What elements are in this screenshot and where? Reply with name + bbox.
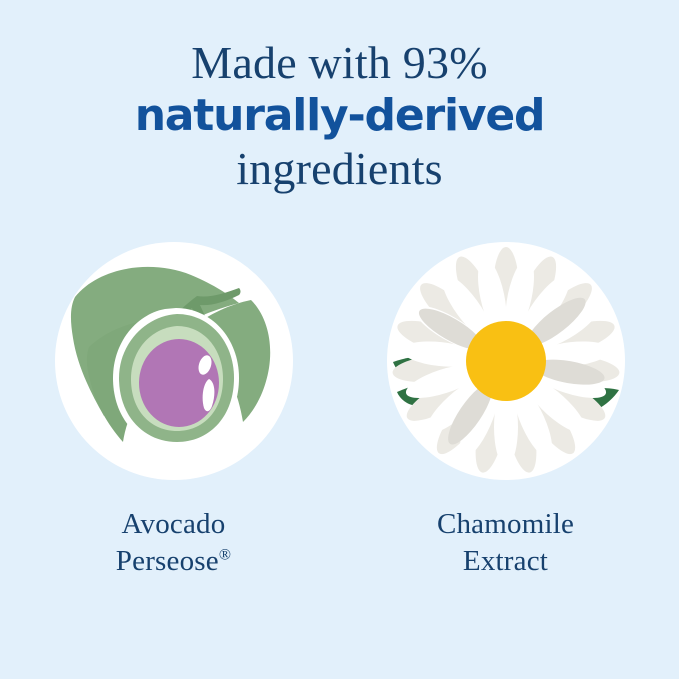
avocado-caption-name: Perseose xyxy=(116,545,219,577)
headline-block: Made with 93% naturally-derived ingredie… xyxy=(0,38,679,194)
chamomile-caption-line-1: Chamomile xyxy=(437,506,574,543)
chamomile-caption-line-2: Extract xyxy=(437,543,574,580)
ingredient-item-avocado: Avocado Perseose® xyxy=(55,242,293,579)
avocado-caption-line-2: Perseose® xyxy=(116,543,231,580)
avocado-caption-line-1: Avocado xyxy=(116,506,231,543)
avocado-badge xyxy=(55,242,293,480)
ingredient-item-chamomile: Chamomile Extract xyxy=(387,242,625,579)
headline-line-1: Made with 93% xyxy=(0,38,679,88)
chamomile-caption: Chamomile Extract xyxy=(437,506,574,579)
chamomile-flower-illustration xyxy=(387,242,625,480)
ingredient-list: Avocado Perseose® xyxy=(0,242,679,579)
chamomile-badge xyxy=(387,242,625,480)
headline-line-3: ingredients xyxy=(0,144,679,194)
headline-line-2-emphasis: naturally-derived xyxy=(0,88,679,144)
ingredient-claim-poster: Made with 93% naturally-derived ingredie… xyxy=(0,0,679,679)
avocado-caption: Avocado Perseose® xyxy=(116,506,231,579)
registered-trademark-symbol: ® xyxy=(219,546,231,563)
avocado-illustration xyxy=(55,242,293,480)
